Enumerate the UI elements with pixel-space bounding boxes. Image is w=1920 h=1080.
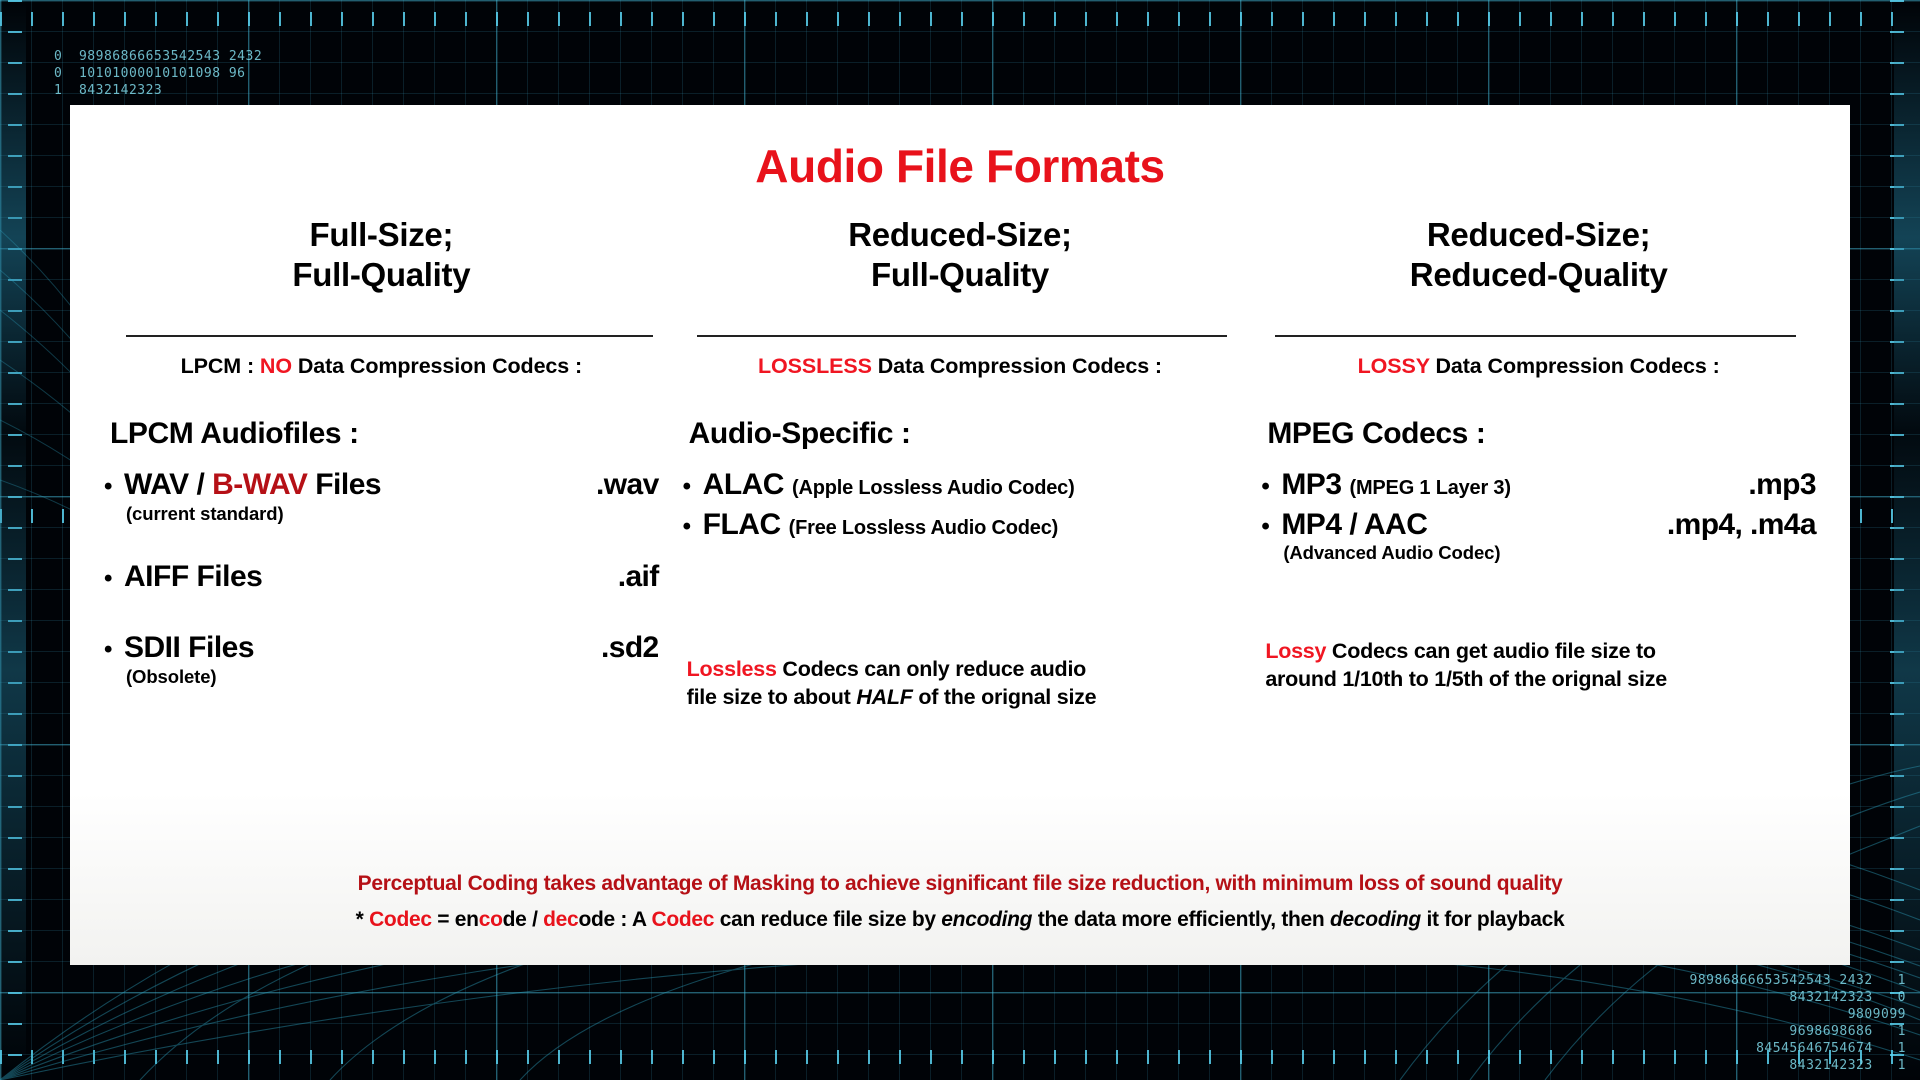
column-note-line2-post: of the orignal size xyxy=(913,685,1097,709)
bullet-icon: • xyxy=(683,515,703,539)
list-item-row: • MP3 (MPEG 1 Layer 3) .mp3 xyxy=(1261,465,1816,505)
bullet-icon: • xyxy=(104,475,124,499)
list-item-row: • AIFF Files .aif xyxy=(104,557,659,597)
format-name: WAV / B-WAV Files xyxy=(124,465,381,505)
format-list: • MP3 (MPEG 1 Layer 3) .mp3 • MP4 / AAC … xyxy=(1261,465,1816,564)
bullet-icon: • xyxy=(1261,515,1281,539)
list-item: • MP3 (MPEG 1 Layer 3) .mp3 xyxy=(1261,465,1816,505)
codec-type-label: LPCM : NO Data Compression Codecs : xyxy=(104,354,659,379)
list-item-row: • MP4 / AAC .mp4, .m4a xyxy=(1261,505,1816,545)
column-note-line2: file size to about HALF of the orignal s… xyxy=(687,684,1238,712)
footer-seg-f: it for playback xyxy=(1421,908,1564,931)
list-item: • WAV / B-WAV Files .wav (current standa… xyxy=(104,465,659,525)
footer-seg-d: can reduce file size by xyxy=(714,908,941,931)
footer: Perceptual Coding takes advantage of Mas… xyxy=(70,866,1850,940)
background-digits-bottom: 98986866653542543 2432 1 8432142323 0 98… xyxy=(1690,972,1907,1074)
list-item-row: • SDII Files .sd2 xyxy=(104,628,659,668)
footer-line1-highlight: Perceptual Coding xyxy=(358,872,538,895)
list-item: • MP4 / AAC .mp4, .m4a (Advanced Audio C… xyxy=(1261,505,1816,565)
format-list: • WAV / B-WAV Files .wav (current standa… xyxy=(104,465,659,688)
digit-line: 9809099 xyxy=(1848,1007,1906,1022)
group-title: LPCM Audiofiles : xyxy=(110,417,659,451)
column-heading-line1: Full-Size; xyxy=(104,215,659,255)
bullet-icon: • xyxy=(1261,475,1281,499)
column-note: Lossy Codecs can get audio file size to … xyxy=(1265,638,1816,693)
column-note-rest: Codecs can only reduce audio xyxy=(777,657,1086,681)
format-name-pre: WAV / xyxy=(124,468,212,501)
footer-co-highlight: co xyxy=(479,908,503,931)
codec-type-label: LOSSY Data Compression Codecs : xyxy=(1261,354,1816,379)
format-subnote: (current standard) xyxy=(126,503,659,525)
column-heading: Reduced-Size; Reduced-Quality xyxy=(1261,215,1816,307)
group-title: MPEG Codecs : xyxy=(1267,417,1816,451)
format-name: ALAC xyxy=(703,465,784,505)
footer-seg-e: the data more efficiently, then xyxy=(1032,908,1330,931)
tick-row-bottom xyxy=(0,1050,1920,1064)
column-note-line1: Lossless Codecs can only reduce audio xyxy=(687,656,1238,684)
format-list: • ALAC (Apple Lossless Audio Codec) • FL… xyxy=(683,465,1238,544)
column-note-line1: Lossy Codecs can get audio file size to xyxy=(1265,638,1816,666)
format-name-post: Files xyxy=(307,468,381,501)
file-extension: .sd2 xyxy=(601,628,659,668)
format-name: SDII Files xyxy=(124,628,254,668)
footer-line-perceptual-coding: Perceptual Coding takes advantage of Mas… xyxy=(70,866,1850,903)
column-reduced-size-full-quality: Reduced-Size; Full-Quality LOSSLESS Data… xyxy=(671,215,1250,711)
codec-prefix: LPCM : xyxy=(181,354,260,378)
footer-line1-rest: takes advantage of Masking to achieve si… xyxy=(538,872,1562,895)
file-extension: .aif xyxy=(618,557,659,597)
digit-line: 1 8432142323 xyxy=(54,83,162,98)
column-divider-rule xyxy=(697,335,1228,337)
column-divider-rule xyxy=(126,335,653,337)
column-full-size-full-quality: Full-Size; Full-Quality LPCM : NO Data C… xyxy=(92,215,671,711)
digit-line: 98986866653542543 2432 1 xyxy=(1690,973,1907,988)
list-item: • AIFF Files .aif xyxy=(104,557,659,597)
codec-type-label: LOSSLESS Data Compression Codecs : xyxy=(683,354,1238,379)
digit-line: 0 10101000010101098 96 xyxy=(54,66,246,81)
format-name: MP4 / AAC xyxy=(1281,505,1427,545)
codec-suffix: Data Compression Codecs : xyxy=(1430,354,1720,378)
bullet-icon: • xyxy=(104,638,124,662)
format-name: MP3 xyxy=(1281,465,1341,505)
footer-line-codec-definition: * Codec = encode / decode : A Codec can … xyxy=(70,902,1850,939)
background-digits-top: 0 98986866653542543 2432 0 1010100001010… xyxy=(54,48,262,99)
page-title: Audio File Formats xyxy=(70,139,1850,193)
digit-line: 84545646754674 1 xyxy=(1756,1041,1906,1056)
column-note-emphasis: HALF xyxy=(856,685,912,709)
column-heading: Reduced-Size; Full-Quality xyxy=(683,215,1238,307)
codec-highlight: LOSSY xyxy=(1358,354,1430,378)
tick-row-top xyxy=(0,12,1920,26)
footer-codec-word-1: Codec xyxy=(369,908,432,931)
codec-highlight: NO xyxy=(260,354,292,378)
list-item-row: • FLAC (Free Lossless Audio Codec) xyxy=(683,505,1238,545)
format-expansion: (MPEG 1 Layer 3) xyxy=(1350,475,1511,501)
column-heading-line2: Reduced-Quality xyxy=(1261,255,1816,295)
format-name: AIFF Files xyxy=(124,557,262,597)
footer-encoding-emphasis: encoding xyxy=(941,908,1032,931)
column-heading-line1: Reduced-Size; xyxy=(1261,215,1816,255)
digit-line: 0 98986866653542543 2432 xyxy=(54,49,262,64)
bullet-icon: • xyxy=(104,567,124,591)
column-heading-line2: Full-Quality xyxy=(104,255,659,295)
format-subnote: (Obsolete) xyxy=(126,666,659,688)
left-edge-glow xyxy=(0,0,26,1080)
list-item: • ALAC (Apple Lossless Audio Codec) xyxy=(683,465,1238,505)
right-edge-glow xyxy=(1894,0,1920,1080)
digit-line: 8432142323 0 xyxy=(1789,990,1906,1005)
footer-star: * xyxy=(356,908,369,931)
column-note: Lossless Codecs can only reduce audio fi… xyxy=(687,656,1238,711)
file-extension: .wav xyxy=(596,465,659,505)
list-item-row: • ALAC (Apple Lossless Audio Codec) xyxy=(683,465,1238,505)
footer-codec-word-2: Codec xyxy=(651,908,714,931)
file-extension: .mp3 xyxy=(1748,465,1816,505)
slide-card: Audio File Formats Full-Size; Full-Quali… xyxy=(70,105,1850,965)
list-spacer xyxy=(104,596,659,628)
column-heading: Full-Size; Full-Quality xyxy=(104,215,659,307)
column-note-line2-pre: file size to about xyxy=(687,685,857,709)
footer-seg-b: de / xyxy=(503,908,544,931)
list-item-row: • WAV / B-WAV Files .wav xyxy=(104,465,659,505)
list-item: • SDII Files .sd2 (Obsolete) xyxy=(104,628,659,688)
column-note-rest: Codecs can get audio file size to xyxy=(1326,639,1656,663)
list-spacer xyxy=(104,525,659,557)
codec-suffix: Data Compression Codecs : xyxy=(292,354,582,378)
footer-seg-c: ode : A xyxy=(578,908,651,931)
footer-dec-highlight: dec xyxy=(543,908,578,931)
column-divider-rule xyxy=(1275,335,1796,337)
footer-decoding-emphasis: decoding xyxy=(1330,908,1421,931)
codec-highlight: LOSSLESS xyxy=(758,354,872,378)
format-subnote: (Advanced Audio Codec) xyxy=(1283,542,1816,564)
column-note-highlight: Lossless xyxy=(687,657,777,681)
group-title: Audio-Specific : xyxy=(689,417,1238,451)
column-reduced-size-reduced-quality: Reduced-Size; Reduced-Quality LOSSY Data… xyxy=(1249,215,1828,711)
list-item: • FLAC (Free Lossless Audio Codec) xyxy=(683,505,1238,545)
bullet-icon: • xyxy=(683,475,703,499)
column-note-line2: around 1/10th to 1/5th of the orignal si… xyxy=(1265,666,1816,694)
column-heading-line1: Reduced-Size; xyxy=(683,215,1238,255)
codec-suffix: Data Compression Codecs : xyxy=(872,354,1162,378)
digit-line: 8432142323 1 xyxy=(1789,1058,1906,1073)
column-heading-line2: Full-Quality xyxy=(683,255,1238,295)
column-note-highlight: Lossy xyxy=(1265,639,1326,663)
format-expansion: (Free Lossless Audio Codec) xyxy=(789,515,1058,541)
file-extension: .mp4, .m4a xyxy=(1667,505,1816,545)
digit-line: 9698698686 1 xyxy=(1789,1024,1906,1039)
format-expansion: (Apple Lossless Audio Codec) xyxy=(792,475,1075,501)
format-name: FLAC xyxy=(703,505,781,545)
format-name-highlight: B-WAV xyxy=(212,468,307,501)
columns-container: Full-Size; Full-Quality LPCM : NO Data C… xyxy=(70,215,1850,711)
footer-seg-a: = en xyxy=(432,908,479,931)
